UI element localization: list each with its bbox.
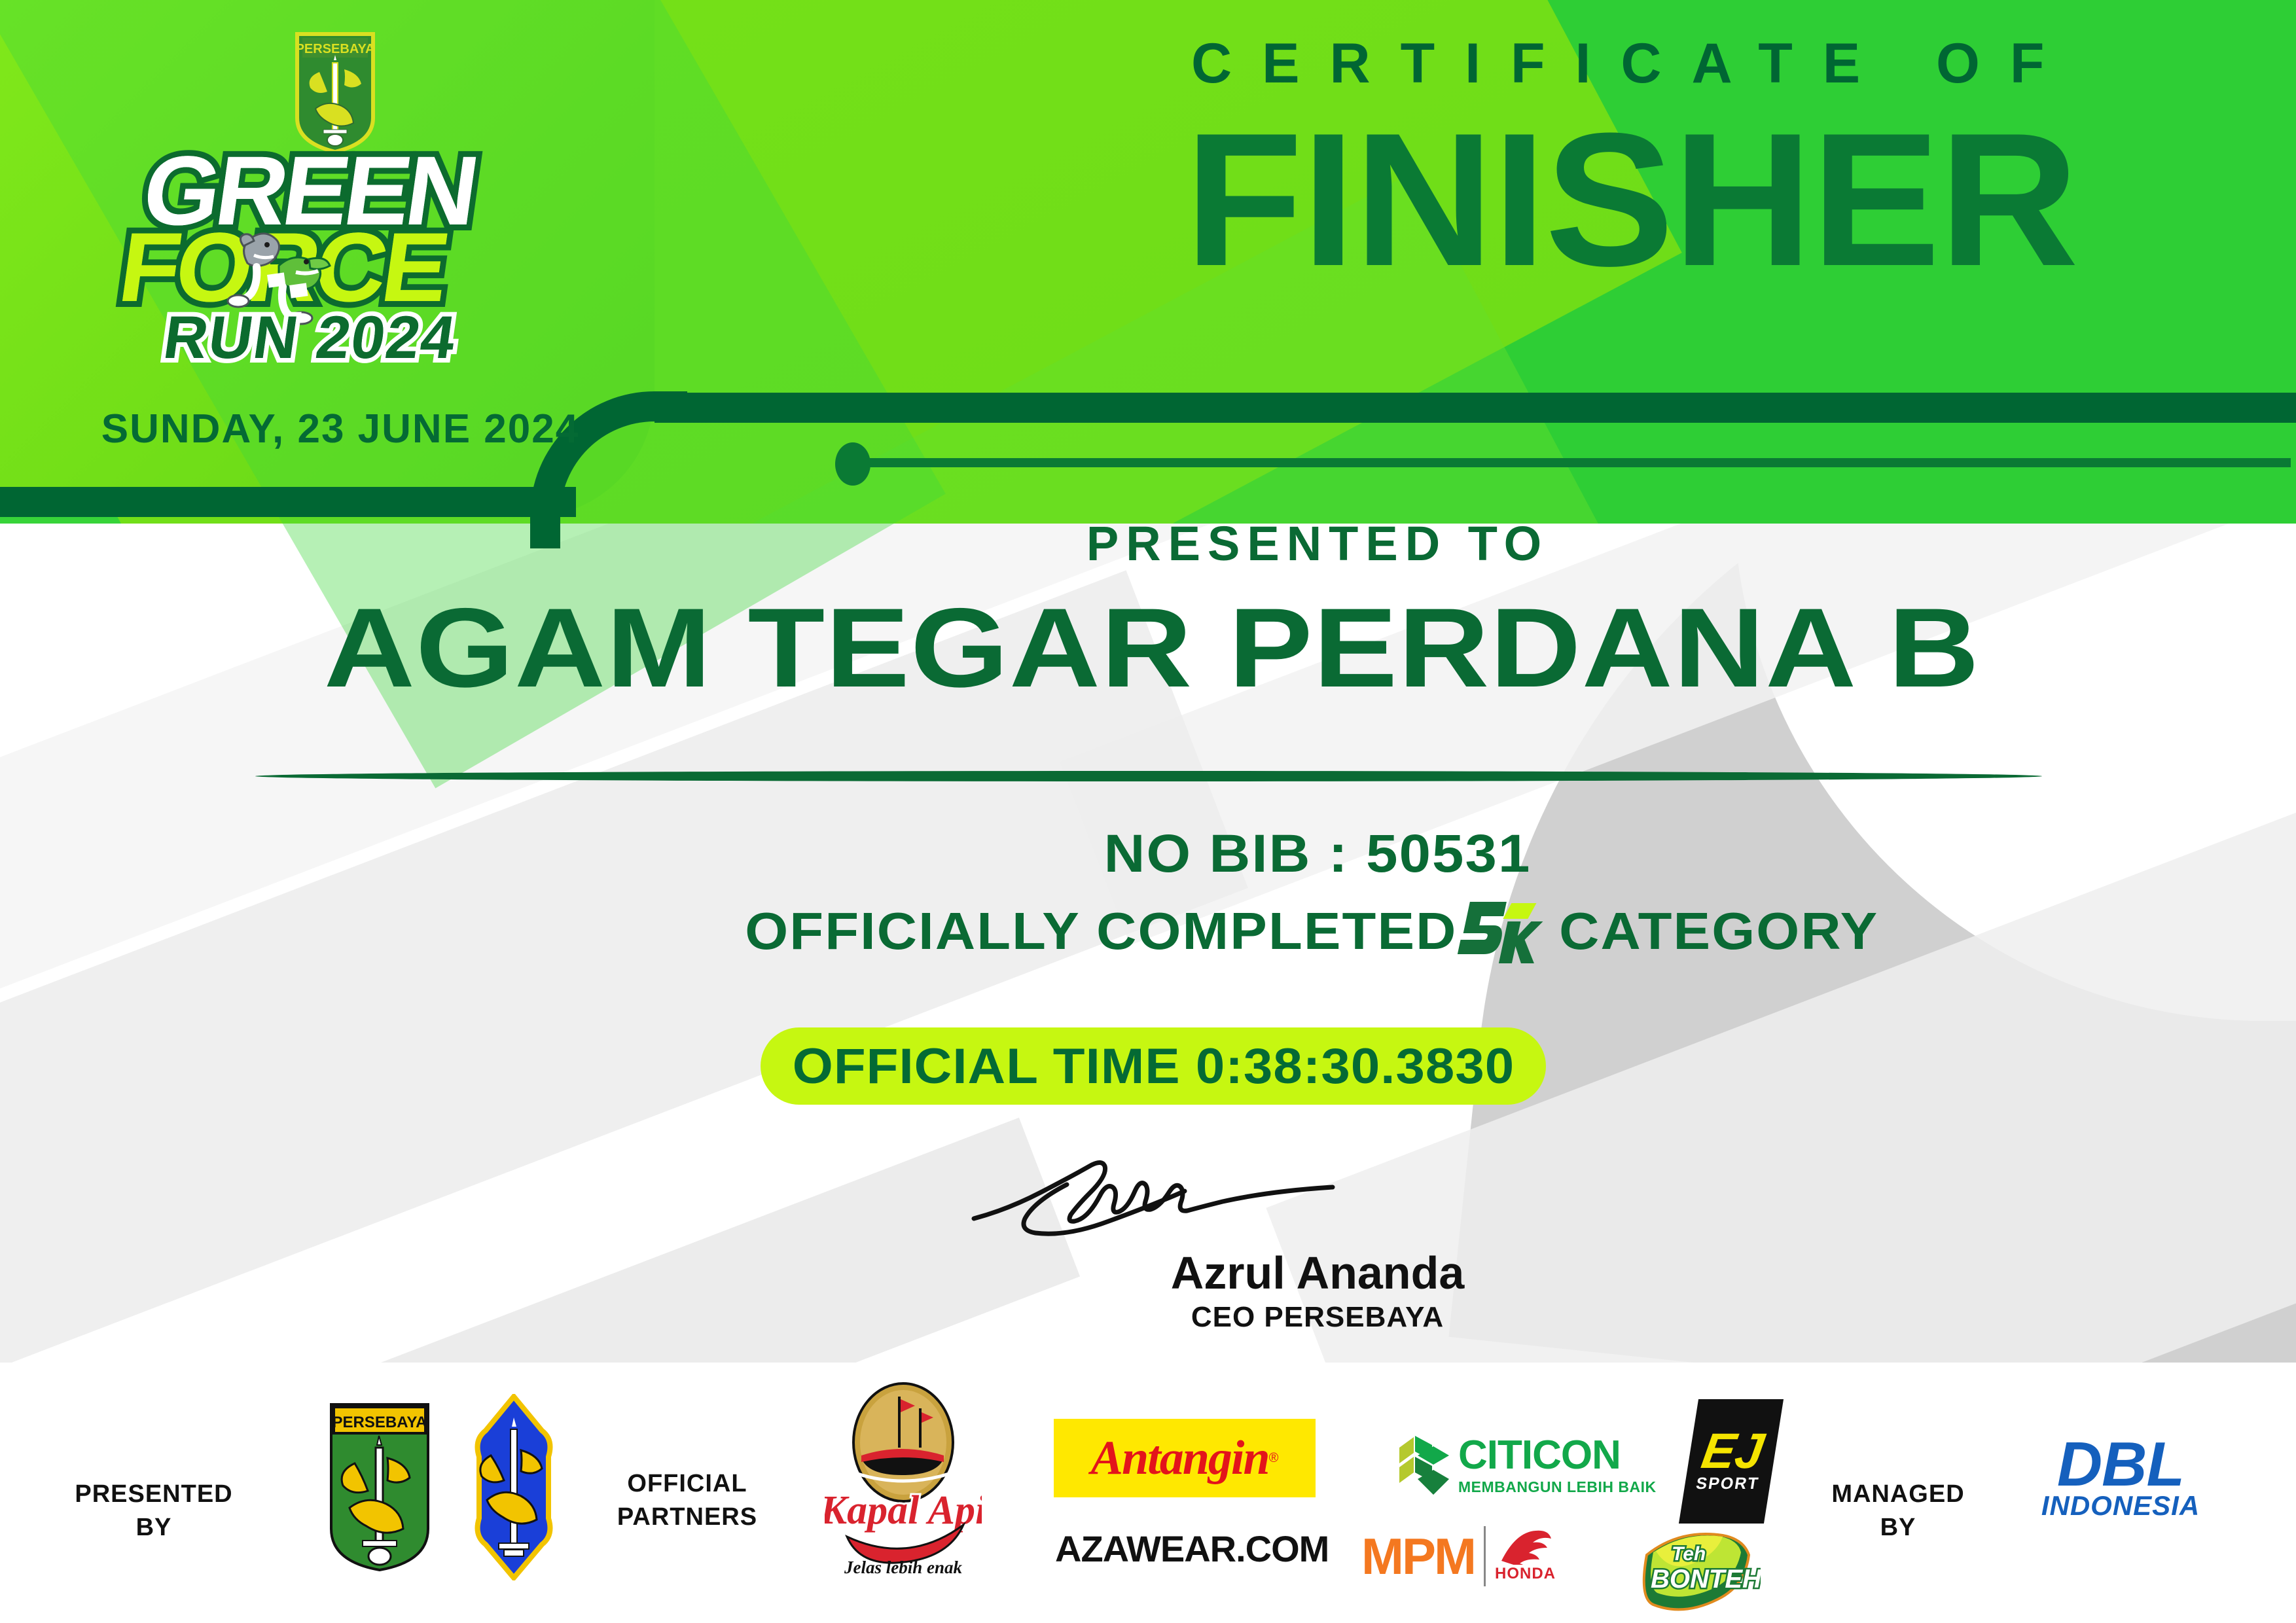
persebaya-wordmark: PERSEBAYA xyxy=(332,1414,427,1431)
category-5k-badge-icon xyxy=(1457,895,1549,967)
recipient-name-underline xyxy=(255,771,2042,781)
sponsor-citicon-logo: CITICON MEMBANGUN LEBIH BAIK xyxy=(1394,1431,1657,1499)
event-date: SUNDAY, 23 JUNE 2024 xyxy=(79,406,602,452)
official-partners-line2: PARTNERS xyxy=(609,1501,766,1534)
citicon-mark-icon xyxy=(1394,1431,1450,1499)
completed-category-row: OFFICIALLY COMPLETED CATEGORY xyxy=(470,895,2165,967)
recipient-name: AGAM TEGAR PERDANA B xyxy=(103,589,2200,707)
sponsor-teh-bonteh-logo: Teh BONTEH xyxy=(1636,1520,1761,1623)
decorative-line xyxy=(864,458,2291,467)
presented-by-label: PRESENTED BY xyxy=(72,1478,236,1545)
finisher-title: FINISHER xyxy=(1185,105,2266,294)
persebaya-shield-icon: PERSEBAYA xyxy=(293,31,377,154)
teh-bonteh-line1: Teh xyxy=(1672,1543,1706,1565)
official-partners-line1: OFFICIAL xyxy=(609,1467,766,1501)
sponsor-azawear-logo: AZAWEAR.COM xyxy=(1055,1527,1329,1570)
completed-suffix: CATEGORY xyxy=(1559,901,1878,961)
official-time-badge: OFFICIAL TIME 0:38:30.3830 xyxy=(761,1027,1546,1105)
certificate-of-label: CERTIFICATE OF xyxy=(1191,31,2225,96)
antangin-registered-mark: ® xyxy=(1269,1451,1279,1466)
certificate-canvas: CERTIFICATE OF FINISHER PERSEBAYA GREEN xyxy=(0,0,2296,1623)
svg-text:RUN 2024: RUN 2024 xyxy=(160,303,461,370)
green-force-run-logo: GREEN GREEN FORCE FORCE RUN 2024 xyxy=(72,147,602,370)
sponsor-kapal-api-logo: Kapal Api Jelas lebih enak xyxy=(825,1382,982,1578)
header-border-bottom xyxy=(0,487,576,517)
sponsor-persebaya-logo: PERSEBAYA xyxy=(321,1400,439,1574)
official-time-text: OFFICIAL TIME 0:38:30.3830 xyxy=(792,1038,1514,1095)
honda-wordmark: HONDA xyxy=(1495,1565,1556,1583)
header-border-horizontal xyxy=(655,393,2296,423)
citicon-wordmark: CITICON xyxy=(1458,1433,1621,1478)
official-partners-label: OFFICIAL PARTNERS xyxy=(609,1467,766,1535)
kapal-api-tagline: Jelas lebih enak xyxy=(844,1558,962,1577)
signatory-name: Azrul Ananda xyxy=(666,1247,1969,1299)
footer-sponsors: PRESENTED BY PERSEBAYA OFFICIAL xyxy=(0,1363,2296,1623)
ej-wordmark: EJ xyxy=(1698,1429,1767,1474)
honda-wing-icon xyxy=(1498,1529,1552,1565)
sponsor-mpm-honda-logo: MPM HONDA xyxy=(1361,1526,1556,1586)
mpm-divider xyxy=(1484,1526,1486,1586)
kapal-api-wordmark: Kapal Api xyxy=(825,1488,982,1533)
sponsor-antangin-logo: Antangin® xyxy=(1054,1419,1316,1497)
teh-bonteh-line2: BONTEH xyxy=(1651,1565,1761,1594)
presented-to-label: PRESENTED TO xyxy=(666,516,1969,571)
signatory-title: CEO PERSEBAYA xyxy=(666,1301,1969,1334)
persebaya-shield-text: PERSEBAYA xyxy=(296,42,375,56)
managed-by-label: MANAGED BY xyxy=(1813,1478,1983,1545)
sponsor-surabaya-emblem xyxy=(458,1394,569,1580)
antangin-wordmark: Antangin xyxy=(1091,1431,1269,1486)
bib-number: NO BIB : 50531 xyxy=(627,823,2007,885)
completed-prefix: OFFICIALLY COMPLETED xyxy=(745,901,1458,961)
sponsor-dbl-indonesia-logo: DBL INDONESIA xyxy=(2009,1436,2232,1519)
dbl-wordmark: DBL xyxy=(2057,1429,2184,1499)
sponsor-ej-sport-logo: EJ SPORT xyxy=(1679,1399,1784,1524)
ej-sub-label: SPORT xyxy=(1695,1474,1761,1493)
citicon-tagline: MEMBANGUN LEBIH BAIK xyxy=(1458,1480,1657,1495)
mpm-wordmark: MPM xyxy=(1361,1533,1475,1579)
dbl-sub-label: INDONESIA xyxy=(2009,1493,2232,1519)
signature-icon xyxy=(962,1158,1355,1243)
